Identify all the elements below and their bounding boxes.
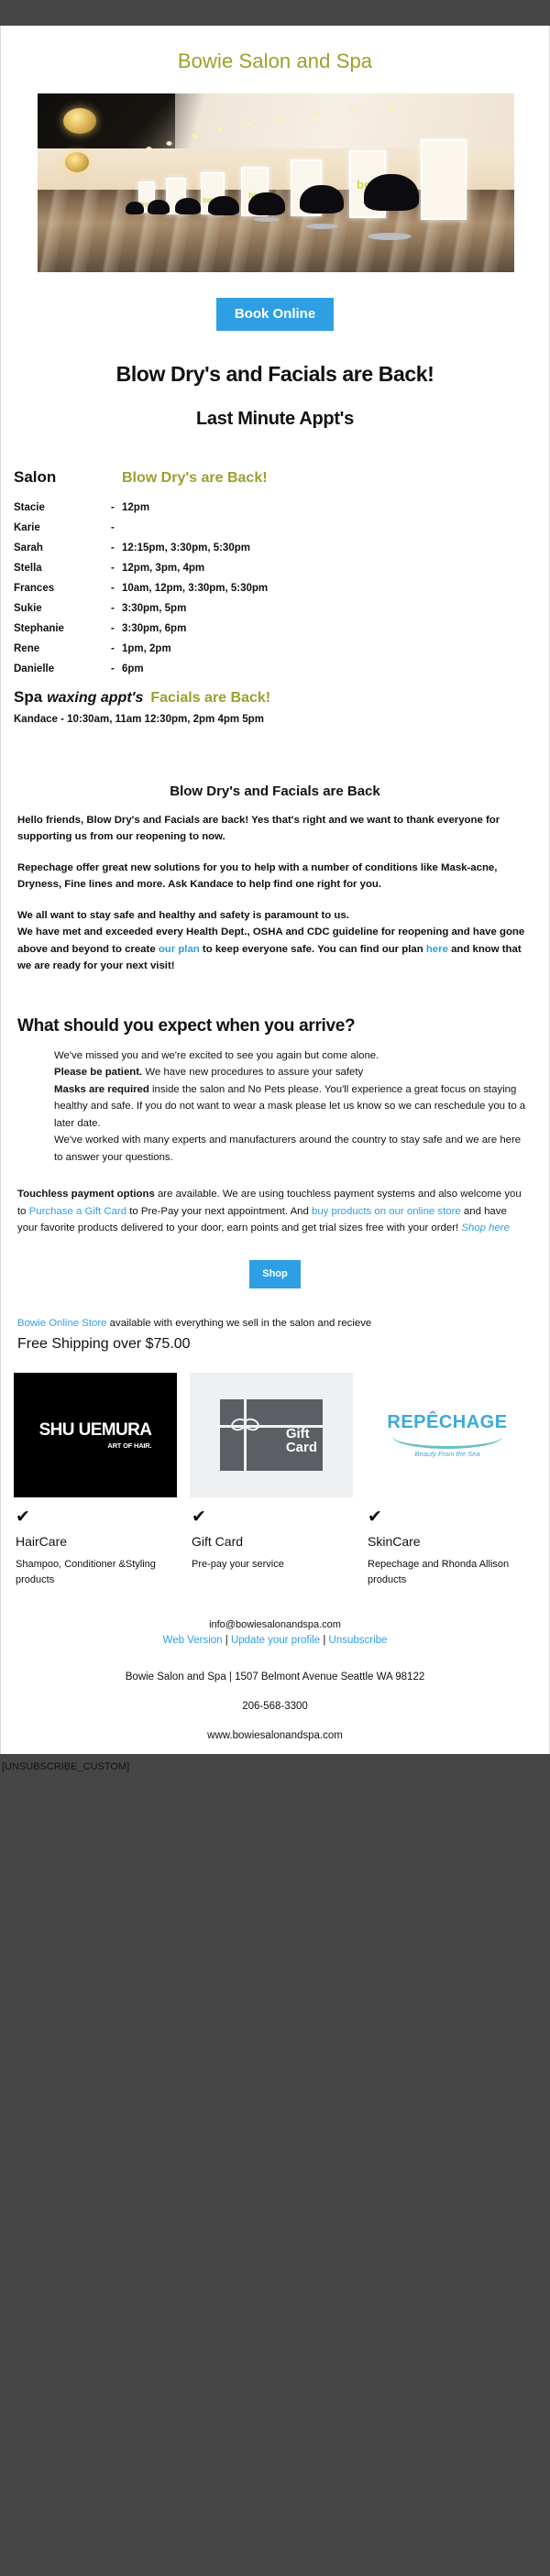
table-row: Kandace - 10:30am, 11am 12:30pm, 2pm 4pm… <box>14 712 549 725</box>
stylist-name: Frances <box>14 583 111 594</box>
table-row: Sarah - 12:15pm, 3:30pm, 5:30pm <box>14 538 549 558</box>
business-website: www.bowiesalonandspa.com <box>17 1712 533 1741</box>
ceiling-light-icon <box>278 116 284 121</box>
online-store-line: Bowie Online Store available with everyt… <box>1 1296 549 1332</box>
our-plan-link[interactable]: our plan <box>159 944 200 955</box>
ceiling-light-icon <box>166 141 172 146</box>
ceiling-light-icon <box>192 134 198 138</box>
table-row: Stella - 12pm, 3pm, 4pm <box>14 558 549 578</box>
salon-chair <box>208 196 239 215</box>
stylist-times: 12pm, 3pm, 4pm <box>122 563 204 574</box>
shop-here-link[interactable]: Shop here <box>461 1222 510 1233</box>
row-dash: - <box>111 623 122 634</box>
stylist-times: 12:15pm, 3:30pm, 5:30pm <box>122 543 250 554</box>
business-address: Bowie Salon and Spa | 1507 Belmont Avenu… <box>17 1646 533 1683</box>
para3-line3: to keep everyone safe. You can find our … <box>200 944 426 955</box>
row-dash: - <box>111 502 122 513</box>
stylist-name: Stella <box>14 563 111 574</box>
salon-chair <box>364 174 419 211</box>
card-description: Repechage and Rhonda Allison products <box>366 1549 529 1588</box>
stylist-name: Stephanie <box>14 623 111 634</box>
ceiling-light-icon <box>313 112 319 116</box>
row-dash: - <box>111 583 122 594</box>
ceiling-light-icon <box>388 104 394 109</box>
email-page: Bowie Salon and Spa <box>0 0 550 2576</box>
shu-uemura-wordmark: SHU UEMURA <box>39 1420 152 1441</box>
contact-email: info@bowiesalonandspa.com <box>17 1619 533 1630</box>
gift-card-text-line1: Gift <box>286 1427 317 1441</box>
shop-button[interactable]: Shop <box>249 1260 301 1288</box>
repechage-tagline: Beauty From the Sea <box>387 1450 507 1458</box>
article-title: Blow Dry's and Facials are Back <box>1 725 549 799</box>
row-dash: - <box>111 643 122 654</box>
headline-primary: Blow Dry's and Facials are Back! <box>1 338 549 387</box>
blow-dry-accent-text: Blow Dry's are Back! <box>122 470 268 487</box>
expect-bold-masks: Masks are required <box>54 1084 149 1095</box>
article-body: Hello friends, Blow Dry's and Facials ar… <box>1 799 549 975</box>
chair-base <box>254 217 280 222</box>
check-icon: ✔ <box>190 1497 353 1526</box>
payments-body: Touchless payment options are available.… <box>1 1166 549 1236</box>
payments-text-b: to Pre-Pay your next appointment. And <box>126 1206 312 1217</box>
spa-waxing-label: waxing appt's <box>47 690 143 707</box>
stylist-times: 3:30pm, 6pm <box>122 623 186 634</box>
link-separator: | <box>225 1635 228 1646</box>
table-row: Stacie - 12pm <box>14 498 549 518</box>
stylist-name: Sukie <box>14 603 111 614</box>
free-shipping-text: Free Shipping over $75.00 <box>1 1332 549 1353</box>
email-content: Bowie Salon and Spa <box>0 26 550 1754</box>
unsubscribe-link[interactable]: Unsubscribe <box>329 1635 388 1646</box>
chandelier-icon <box>65 152 89 172</box>
table-row: Danielle - 6pm <box>14 659 549 679</box>
expect-line-2: We have new procedures to assure your sa… <box>142 1067 363 1078</box>
link-separator: | <box>323 1635 325 1646</box>
chair-base <box>305 224 338 229</box>
book-online-row: Book Online <box>1 272 549 338</box>
card-title: HairCare <box>14 1526 177 1549</box>
web-version-link[interactable]: Web Version <box>163 1635 223 1646</box>
expect-body: We've missed you and we're excited to se… <box>1 1036 549 1166</box>
salon-chair <box>126 202 144 214</box>
chair-base <box>368 233 412 240</box>
shu-uemura-tagline: ART OF HAIR. <box>39 1441 152 1450</box>
expect-line-4: We've worked with many experts and manuf… <box>54 1135 521 1162</box>
card-title: SkinCare <box>366 1526 529 1549</box>
here-link[interactable]: here <box>426 944 448 955</box>
styling-mirror <box>421 139 467 220</box>
table-row: Frances - 10am, 12pm, 3:30pm, 5:30pm <box>14 578 549 598</box>
email-footer: info@bowiesalonandspa.com Web Version | … <box>1 1588 549 1741</box>
online-store-link[interactable]: buy products on our online store <box>312 1206 461 1217</box>
table-row: Rene - 1pm, 2pm <box>14 639 549 659</box>
product-card-skincare[interactable]: REPÊCHAGE Beauty From the Sea ✔ SkinCare… <box>366 1373 529 1588</box>
shop-button-row: Shop <box>1 1236 549 1296</box>
table-row: Stephanie - 3:30pm, 6pm <box>14 619 549 639</box>
purchase-gift-card-link[interactable]: Purchase a Gift Card <box>29 1206 126 1217</box>
ceiling-light-icon <box>349 108 356 113</box>
ceiling-light-icon <box>217 126 224 131</box>
repechage-wordmark: REPÊCHAGE <box>387 1412 507 1433</box>
unsubscribe-token-bar: [UNSUBSCRIBE_CUSTOM] <box>0 1754 550 1827</box>
schedule-header-spa: Spa waxing appt's Facials are Back! <box>14 679 549 712</box>
headline-secondary: Last Minute Appt's <box>1 387 549 430</box>
gift-card-icon[interactable]: Gift Card <box>190 1373 353 1497</box>
hero-image-wrap: bowie bowie bowie bowie <box>1 93 549 272</box>
book-online-button[interactable]: Book Online <box>216 298 334 331</box>
salon-chair <box>300 185 344 214</box>
para3-line1: We all want to stay safe and healthy and… <box>17 910 349 921</box>
check-icon: ✔ <box>366 1497 529 1526</box>
row-dash: - <box>111 663 122 674</box>
update-profile-link[interactable]: Update your profile <box>231 1635 320 1646</box>
gift-card-text-line2: Card <box>286 1441 317 1455</box>
card-description: Shampoo, Conditioner &Styling products <box>14 1549 177 1588</box>
repechage-logo-icon[interactable]: REPÊCHAGE Beauty From the Sea <box>366 1373 529 1497</box>
facials-accent-text: Facials are Back! <box>150 690 270 707</box>
card-title: Gift Card <box>190 1526 353 1549</box>
expect-heading: What should you expect when you arrive? <box>1 989 549 1036</box>
ceiling-light-icon <box>146 147 152 151</box>
salon-chair <box>175 198 201 214</box>
appointments-schedule: Salon Blow Dry's are Back! Stacie - 12pm… <box>1 430 549 725</box>
product-card-giftcard[interactable]: Gift Card ✔ Gift Card Pre-pay your servi… <box>190 1373 353 1588</box>
salon-chair <box>248 192 285 215</box>
repechage-wave-icon <box>392 1434 502 1449</box>
table-row: Sukie - 3:30pm, 5pm <box>14 598 549 619</box>
stylist-times: 10am, 12pm, 3:30pm, 5:30pm <box>122 583 268 594</box>
row-dash: - <box>111 603 122 614</box>
stylist-times: 12pm <box>122 502 149 513</box>
article-paragraph-2: Repechage offer great new solutions for … <box>17 860 533 893</box>
check-icon: ✔ <box>14 1497 177 1526</box>
stylist-name: Danielle <box>14 663 111 674</box>
expect-line-1: We've missed you and we're excited to se… <box>54 1050 379 1061</box>
top-dark-bar <box>0 0 550 26</box>
page-title: Bowie Salon and Spa <box>1 26 549 93</box>
article-paragraph-3: We all want to stay safe and healthy and… <box>17 907 533 975</box>
spa-label: Spa <box>14 688 42 707</box>
bowie-online-store-link[interactable]: Bowie Online Store <box>17 1318 107 1329</box>
product-cards: SHU UEMURA ART OF HAIR. ✔ HairCare Shamp… <box>1 1353 549 1588</box>
row-dash: - <box>111 563 122 574</box>
table-row: Karie - <box>14 518 549 538</box>
schedule-header-salon: Salon Blow Dry's are Back! <box>14 468 549 498</box>
expect-bold-patient: Please be patient. <box>54 1067 142 1078</box>
ceiling-light-icon <box>247 121 253 126</box>
article-paragraph-1: Hello friends, Blow Dry's and Facials ar… <box>17 812 533 846</box>
chandelier-icon <box>63 108 96 134</box>
row-dash: - <box>111 522 122 533</box>
product-card-haircare[interactable]: SHU UEMURA ART OF HAIR. ✔ HairCare Shamp… <box>14 1373 177 1588</box>
stylist-name: Sarah <box>14 543 111 554</box>
stylist-times: 3:30pm, 5pm <box>122 603 186 614</box>
stylist-times: 1pm, 2pm <box>122 643 171 654</box>
row-dash: - <box>111 543 122 554</box>
stylist-name: Rene <box>14 643 111 654</box>
stylist-name: Stacie <box>14 502 111 513</box>
stylist-times: 6pm <box>122 663 144 674</box>
store-tail-text: available with everything we sell in the… <box>107 1318 372 1329</box>
stylist-name: Karie <box>14 522 111 533</box>
payments-bold-lead: Touchless payment options <box>17 1189 155 1200</box>
gift-ribbon-vertical <box>244 1399 247 1471</box>
footer-links: Web Version | Update your profile | Unsu… <box>17 1630 533 1646</box>
salon-chair <box>148 200 170 214</box>
salon-label: Salon <box>14 468 122 487</box>
salon-interior-image: bowie bowie bowie bowie <box>38 93 514 272</box>
business-phone: 206-568-3300 <box>17 1683 533 1712</box>
shu-uemura-logo-icon[interactable]: SHU UEMURA ART OF HAIR. <box>14 1373 177 1497</box>
card-description: Pre-pay your service <box>190 1549 353 1573</box>
